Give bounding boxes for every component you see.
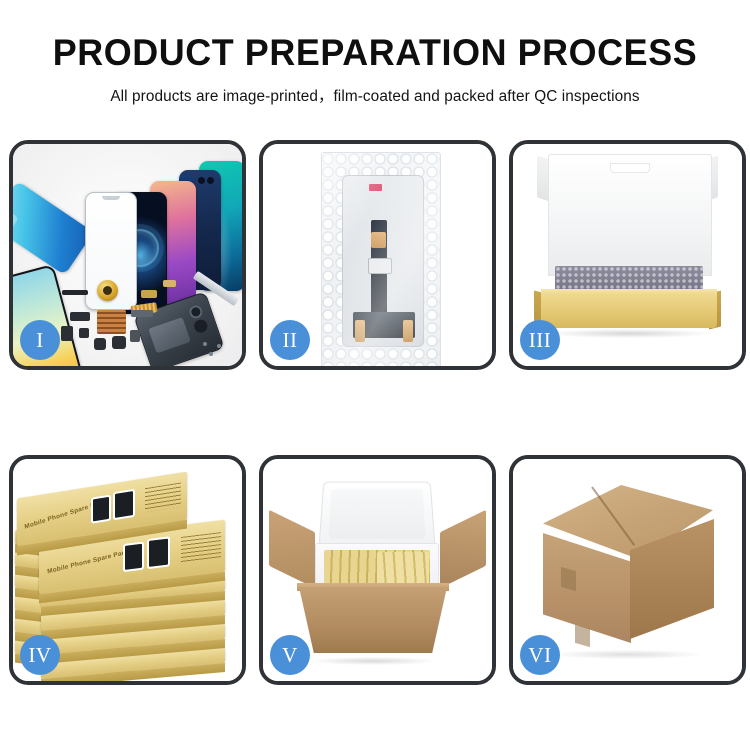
carton-flap-left	[269, 510, 315, 588]
box-label-text: Mobile Phone Spare Parts	[47, 548, 131, 575]
speaker-coil-part	[97, 280, 118, 301]
white-box-lid	[548, 154, 712, 276]
foam-lid-inner	[328, 489, 425, 539]
pink-qc-label	[369, 184, 382, 191]
spare-part-chip	[163, 280, 176, 287]
process-step-4: Mobile Phone Spare Parts Mobile Phone Sp…	[9, 455, 246, 685]
box-product-swatch	[115, 491, 133, 518]
process-step-3: III	[509, 140, 746, 370]
screw-part	[203, 342, 207, 346]
carton-tape-mark	[561, 567, 576, 591]
screw-part	[217, 344, 221, 348]
drop-shadow	[553, 650, 701, 659]
box-product-swatch	[125, 544, 142, 570]
bubble-wrap-bag	[321, 152, 441, 366]
box-product-swatch	[93, 497, 109, 522]
spare-part-chip	[70, 312, 90, 321]
step-badge-4: IV	[20, 635, 60, 675]
drop-shadow	[311, 657, 435, 665]
page-title: PRODUCT PREPARATION PROCESS	[11, 0, 739, 73]
camera-lens	[188, 304, 205, 321]
step-badge-6: VI	[520, 635, 560, 675]
battery-cell	[148, 317, 191, 353]
process-step-grid: I II	[9, 140, 745, 685]
step-badge-1: I	[20, 320, 60, 360]
copper-shield-part	[97, 310, 126, 334]
screw-part	[209, 352, 213, 356]
page-subtitle: All products are image-printed，film-coat…	[4, 73, 747, 106]
carton-tape-mark	[575, 625, 590, 647]
spare-part-chip	[141, 290, 157, 298]
lcd-gold-tab	[403, 320, 413, 342]
spare-part-chip	[130, 330, 140, 342]
kraft-box-front	[541, 294, 717, 328]
foam-box-lid	[319, 482, 436, 547]
process-step-5: V	[259, 455, 496, 685]
carton-flap-right	[440, 510, 486, 588]
spare-part-chip	[79, 328, 89, 338]
step-badge-2: II	[270, 320, 310, 360]
step-badge-3: III	[520, 320, 560, 360]
carton-front-face	[299, 587, 447, 653]
step-badge-5: V	[270, 635, 310, 675]
lid-notch	[610, 163, 650, 173]
drop-shadow	[547, 329, 711, 338]
process-step-6: VI	[509, 455, 746, 685]
lcd-connector	[368, 258, 392, 274]
lcd-tape	[371, 232, 386, 248]
spare-part-chip	[112, 336, 126, 349]
process-step-2: II	[259, 140, 496, 370]
box-spec-lines	[145, 482, 181, 512]
box-spec-lines	[181, 532, 221, 563]
lcd-assembly	[342, 175, 424, 347]
spare-part-chip	[62, 290, 88, 295]
spare-part-chip	[61, 326, 73, 341]
lcd-gold-tab	[355, 320, 365, 342]
page-header: PRODUCT PREPARATION PROCESS All products…	[0, 0, 750, 106]
process-step-1: I	[9, 140, 246, 370]
spare-part-chip	[131, 310, 153, 317]
spare-part-chip	[94, 338, 106, 350]
box-product-swatch	[149, 539, 168, 567]
